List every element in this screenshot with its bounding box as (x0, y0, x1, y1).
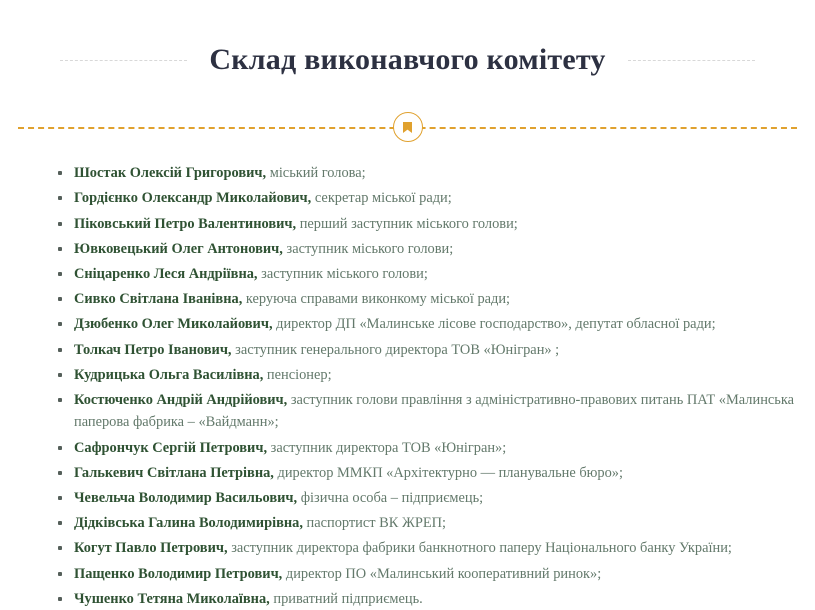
member-name: Сафрончук Сергій Петрович, (74, 440, 267, 456)
list-item: Чевельча Володимир Васильович, фізична о… (58, 487, 795, 510)
list-item: Піковський Петро Валентинович, перший за… (58, 213, 795, 236)
member-role: керуюча справами виконкому міської ради; (242, 291, 510, 307)
member-name: Чушенко Тетяна Миколаївна, (74, 591, 270, 607)
member-role: секретар міської ради; (311, 190, 451, 206)
list-item: Толкач Петро Іванович, заступник генерал… (58, 339, 795, 362)
executive-committee-list: Шостак Олексій Григорович, міський голов… (0, 142, 815, 610)
list-item: Чушенко Тетяна Миколаївна, приватний під… (58, 588, 795, 610)
page-title: Склад виконавчого комітету (209, 42, 605, 78)
member-role: паспортист ВК ЖРЕП; (303, 515, 446, 531)
bookmark-icon (402, 121, 413, 134)
member-role: приватний підприємець. (270, 591, 423, 607)
member-name: Толкач Петро Іванович, (74, 342, 232, 358)
member-role: заступник директора ТОВ «Юнігран»; (267, 440, 506, 456)
member-name: Галькевич Світлана Петрівна, (74, 465, 274, 481)
list-item: Дзюбенко Олег Миколайович, директор ДП «… (58, 313, 795, 336)
list-item: Гордієнко Олександр Миколайович, секрета… (58, 187, 795, 210)
member-name: Піковський Петро Валентинович, (74, 216, 296, 232)
member-role: заступник міського голови; (283, 241, 453, 257)
list-item: Ювковецький Олег Антонович, заступник мі… (58, 238, 795, 261)
member-role: пенсіонер; (263, 367, 331, 383)
member-name: Чевельча Володимир Васильович, (74, 490, 297, 506)
list-item: Сніцаренко Леся Андріївна, заступник міс… (58, 263, 795, 286)
list-item: Сафрончук Сергій Петрович, заступник дир… (58, 437, 795, 460)
member-role: директор ММКП «Архітектурно — планувальн… (274, 465, 623, 481)
title-rule-left (60, 60, 187, 61)
list-item: Сивко Світлана Іванівна, керуюча справам… (58, 288, 795, 311)
member-name: Кудрицька Ольга Василівна, (74, 367, 263, 383)
member-name: Пащенко Володимир Петрович, (74, 566, 282, 582)
title-rule-right (628, 60, 755, 61)
list-item: Дідківська Галина Володимирівна, паспорт… (58, 512, 795, 535)
member-name: Шостак Олексій Григорович, (74, 165, 266, 181)
list-item: Галькевич Світлана Петрівна, директор ММ… (58, 462, 795, 485)
member-role: міський голова; (266, 165, 366, 181)
list-item: Кудрицька Ольга Василівна, пенсіонер; (58, 364, 795, 387)
member-role: заступник міського голови; (258, 266, 428, 282)
member-role: фізична особа – підприємець; (297, 490, 483, 506)
page-header: Склад виконавчого комітету (0, 0, 815, 98)
list-item: Костюченко Андрій Андрійович, заступник … (58, 389, 795, 434)
member-name: Сніцаренко Леся Андріївна, (74, 266, 258, 282)
member-role: директор ДП «Малинське лісове господарст… (273, 316, 716, 332)
list-item: Пащенко Володимир Петрович, директор ПО … (58, 563, 795, 586)
list-item: Когут Павло Петрович, заступник директор… (58, 537, 795, 560)
ornament-divider (0, 112, 815, 142)
member-name: Дзюбенко Олег Миколайович, (74, 316, 273, 332)
member-name: Костюченко Андрій Андрійович, (74, 392, 287, 408)
divider-badge (393, 112, 423, 142)
member-name: Гордієнко Олександр Миколайович, (74, 190, 311, 206)
member-name: Дідківська Галина Володимирівна, (74, 515, 303, 531)
member-name: Сивко Світлана Іванівна, (74, 291, 242, 307)
member-role: перший заступник міського голови; (296, 216, 518, 232)
member-role: заступник директора фабрики банкнотного … (228, 540, 732, 556)
member-name: Ювковецький Олег Антонович, (74, 241, 283, 257)
member-name: Когут Павло Петрович, (74, 540, 228, 556)
page-root: Склад виконавчого комітету Шостак Олексі… (0, 0, 815, 479)
member-role: заступник генерального директора ТОВ «Юн… (232, 342, 560, 358)
member-role: директор ПО «Малинський кооперативний ри… (282, 566, 601, 582)
list-item: Шостак Олексій Григорович, міський голов… (58, 162, 795, 185)
